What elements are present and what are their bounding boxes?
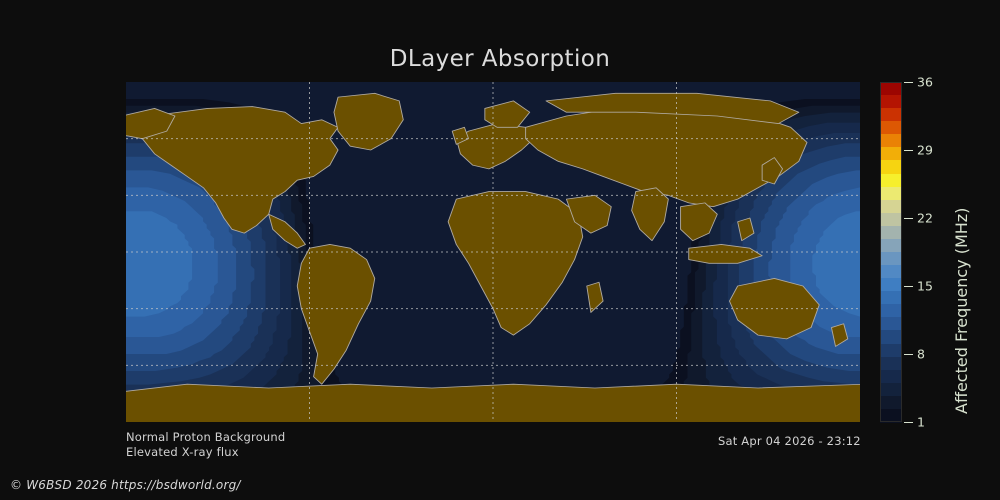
colorbar-max-marker: Max	[880, 282, 910, 306]
colorbar-band	[880, 82, 902, 96]
colorbar-band	[880, 330, 902, 344]
colorbar-tick	[904, 82, 913, 83]
colorbar-band	[880, 357, 902, 371]
page-title: DLayer Absorption	[0, 46, 1000, 72]
colorbar-tick	[904, 422, 913, 423]
colorbar-band	[880, 147, 902, 161]
colorbar-band	[880, 160, 902, 174]
colorbar-tick	[904, 354, 913, 355]
colorbar-band	[880, 304, 902, 318]
colorbar-band	[880, 108, 902, 122]
timestamp-label: Sat Apr 04 2026 - 23:12	[718, 434, 861, 448]
colorbar-band	[880, 200, 902, 214]
xray-status-note: Elevated X-ray flux	[126, 445, 239, 459]
colorbar-band	[880, 226, 902, 240]
colorbar-tick-label: 22	[917, 211, 933, 226]
colorbar-band	[880, 409, 902, 423]
colorbar-band	[880, 121, 902, 135]
map-plot-area[interactable]	[126, 82, 860, 422]
colorbar-band	[880, 252, 902, 266]
colorbar-tick-label: 1	[917, 415, 925, 430]
colorbar-band	[880, 213, 902, 227]
colorbar-band	[880, 187, 902, 201]
colorbar-tick-label: 36	[917, 75, 933, 90]
colorbar-band	[880, 396, 902, 410]
colorbar-band	[880, 317, 902, 331]
copyright-footer: © W6BSD 2026 https://bsdworld.org/	[10, 478, 241, 492]
colorbar-tick-label: 29	[917, 143, 933, 158]
colorbar-band	[880, 265, 902, 279]
colorbar-band	[880, 370, 902, 384]
colorbar[interactable]	[880, 82, 902, 422]
dlayer-absorption-map: DLayer Absorption	[0, 0, 1000, 500]
colorbar-tick-label: 15	[917, 279, 933, 294]
colorbar-band	[880, 134, 902, 148]
proton-status-note: Normal Proton Background	[126, 430, 285, 444]
colorbar-band	[880, 383, 902, 397]
colorbar-tick	[904, 218, 913, 219]
colorbar-band	[880, 344, 902, 358]
map-gridlines	[126, 82, 860, 422]
colorbar-band	[880, 95, 902, 109]
colorbar-band	[880, 174, 902, 188]
colorbar-title: Affected Frequency (MHz)	[952, 208, 971, 414]
colorbar-tick-label: 8	[917, 347, 925, 362]
colorbar-band	[880, 239, 902, 253]
colorbar-tick	[904, 150, 913, 151]
